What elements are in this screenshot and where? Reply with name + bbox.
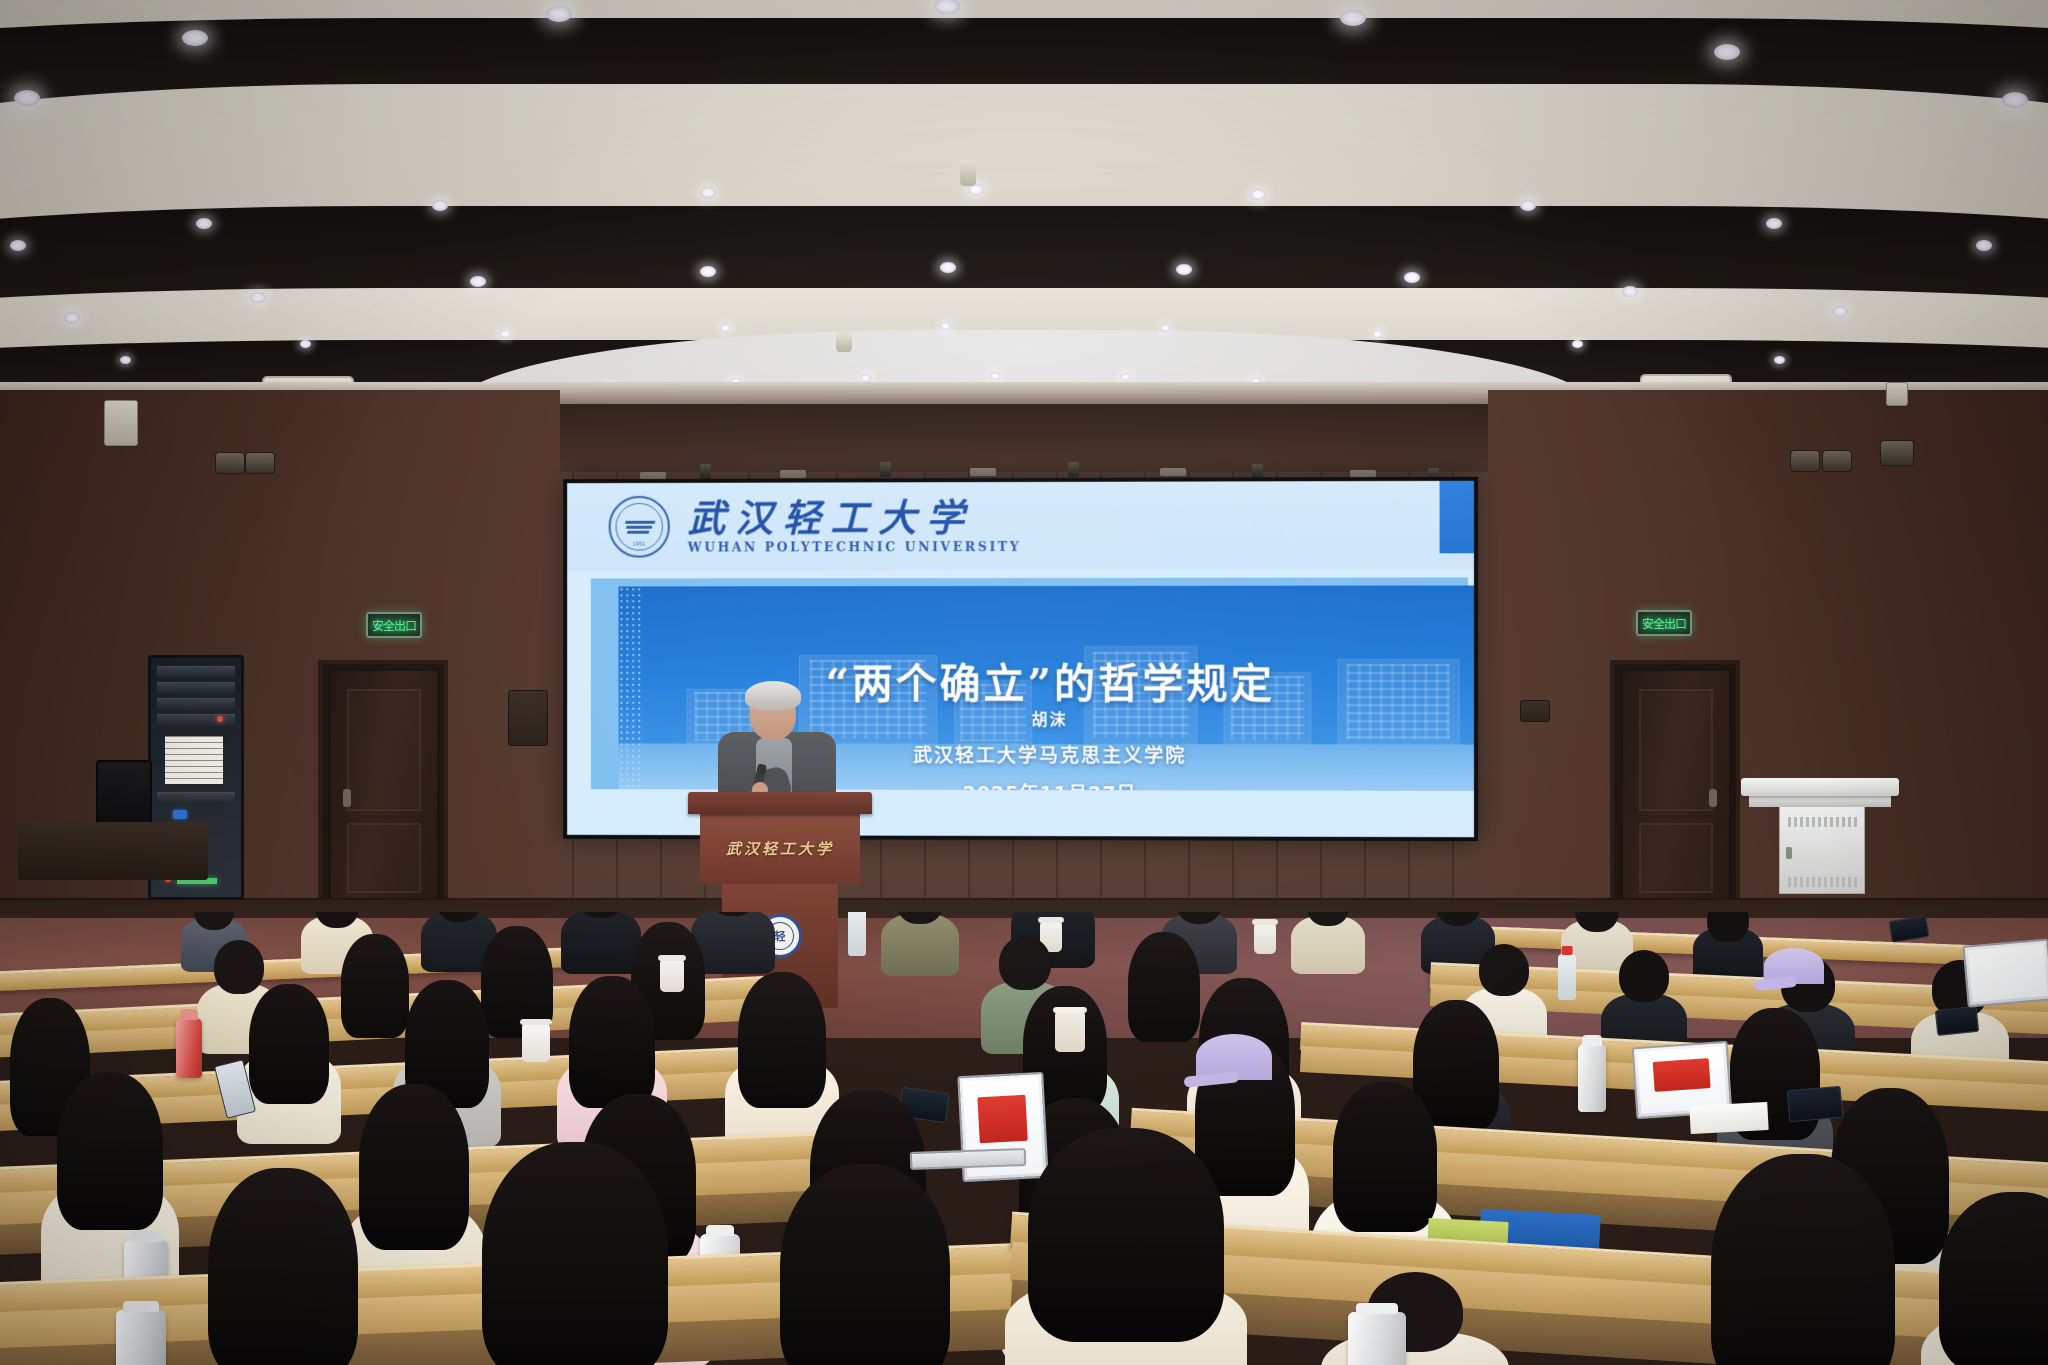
ceiling-downlight <box>1372 330 1383 338</box>
cup-lid <box>1038 917 1064 923</box>
audience-person <box>880 912 960 972</box>
console-vent <box>1788 877 1858 887</box>
person-head <box>1619 950 1669 1002</box>
wall-control-panel[interactable] <box>508 690 548 746</box>
thermos-cap <box>123 1301 159 1312</box>
ceiling <box>0 0 2048 430</box>
ceiling-downlight <box>1520 200 1536 211</box>
ceiling-downlight <box>250 292 266 303</box>
smoke-detector-icon <box>836 332 852 352</box>
podium-desktop <box>688 792 872 814</box>
person-long-hair <box>208 1168 358 1365</box>
ceiling-downlight <box>700 187 716 198</box>
tablet-screen <box>1637 1046 1727 1114</box>
screen-mount-bracket <box>1068 462 1079 477</box>
wall-camera-icon <box>1880 440 1914 466</box>
paper-cup <box>1254 924 1276 954</box>
cap-hat <box>1196 1034 1272 1080</box>
rack-unit <box>157 698 235 710</box>
thermos-bottle <box>176 1018 202 1078</box>
ceiling-downlight <box>2002 92 2028 108</box>
university-name-cn: 武汉轻工大学 <box>688 498 1022 537</box>
ceiling-downlight <box>14 90 40 106</box>
ceiling-downlight <box>990 372 1001 380</box>
ceiling-downlight <box>1250 189 1266 200</box>
person-head <box>1479 944 1529 996</box>
podium-front-panel: 武汉轻工大学 <box>700 812 860 884</box>
rack-label <box>165 736 223 784</box>
rack-unit <box>157 792 235 804</box>
ceiling-downlight <box>64 312 80 323</box>
screen-clip <box>970 468 996 476</box>
person-long-hair <box>1939 1192 2048 1365</box>
slide-header: 1951 武汉轻工大学 WUHAN POLYTECHNIC UNIVERSITY <box>567 481 1474 571</box>
audience-person <box>1692 912 1764 980</box>
ceiling-downlight <box>1176 264 1192 275</box>
paper-cup <box>522 1024 550 1062</box>
person-long-hair <box>780 1164 950 1365</box>
smartphone[interactable] <box>1935 1006 1979 1036</box>
tablet-screen <box>1968 944 2048 1002</box>
ceiling-downlight <box>1766 218 1782 229</box>
person-head <box>999 936 1051 990</box>
console-worktop <box>1741 778 1899 796</box>
ceiling-downlight <box>940 322 951 330</box>
ceiling-downlight <box>470 276 486 287</box>
projection-screen: 1951 武汉轻工大学 WUHAN POLYTECHNIC UNIVERSITY <box>563 477 1478 841</box>
water-bottle <box>1558 954 1576 1000</box>
door-left[interactable] <box>328 668 440 906</box>
tablet-content-block <box>1653 1058 1710 1092</box>
audience-seating-area <box>0 912 2048 1365</box>
seal-wing-mark <box>623 518 656 536</box>
cup-lid <box>520 1019 552 1025</box>
thermos-cap <box>1356 1303 1398 1314</box>
slide-speaker-affiliation: 武汉轻工大学马克思主义学院 <box>913 741 1186 768</box>
wall-speaker-icon <box>1790 450 1820 472</box>
smoke-detector-icon <box>960 160 976 186</box>
console-cabinet <box>1779 806 1865 894</box>
person-long-hair <box>482 1142 668 1365</box>
ceiling-downlight <box>1832 306 1848 317</box>
drink-cup <box>1055 1012 1085 1052</box>
thermos-bottle <box>1578 1044 1606 1112</box>
ceiling-downlight <box>1976 240 1992 251</box>
cup-lid <box>1252 919 1278 925</box>
cup-lid <box>1053 1007 1087 1013</box>
rack-button-icon[interactable] <box>173 810 187 819</box>
exit-sign-right: 安全出口 <box>1636 610 1692 636</box>
door-right[interactable] <box>1620 668 1732 906</box>
audience-person-front <box>760 1164 970 1365</box>
wall-speaker-icon <box>245 452 275 474</box>
bottle-cap <box>1562 946 1573 955</box>
person-long-hair <box>569 976 655 1108</box>
seal-year: 1951 <box>611 542 668 548</box>
person-long-hair <box>1028 1128 1224 1342</box>
lecture-hall-photo: 安全出口 安全出口 1951 武汉轻工大学 WUHAN POLYTECHNIC … <box>0 0 2048 1365</box>
rack-unit <box>157 666 235 678</box>
ceiling-downlight <box>1160 324 1171 332</box>
ceiling-downlight <box>1714 44 1740 60</box>
ceiling-downlight <box>500 330 511 338</box>
thermos-cap <box>180 1009 199 1020</box>
audience-person <box>236 982 342 1138</box>
audience-person-front <box>460 1142 690 1365</box>
screen-mount-bracket <box>700 464 711 479</box>
screen-clip <box>780 470 806 478</box>
person-long-hair <box>1711 1154 1895 1365</box>
exit-sign-left: 安全出口 <box>366 612 422 638</box>
person-long-hair <box>249 984 329 1104</box>
tablet-device[interactable] <box>1962 938 2048 1007</box>
podium-inscription: 武汉轻工大学 <box>726 838 834 859</box>
thermos-cap <box>130 1231 162 1242</box>
ceiling-downlight <box>720 324 731 332</box>
speaker-person <box>712 686 842 806</box>
person-long-hair <box>57 1072 163 1230</box>
screen-clip <box>1160 468 1186 476</box>
rack-unit <box>157 714 235 726</box>
university-name-block: 武汉轻工大学 WUHAN POLYTECHNIC UNIVERSITY <box>688 498 1022 554</box>
ceiling-downlight <box>300 340 311 348</box>
thermos-bottle <box>116 1310 166 1365</box>
ceiling-downlight <box>432 200 448 211</box>
notebook-paper <box>1689 1102 1768 1134</box>
ceiling-downlight <box>700 266 716 277</box>
water-bottle <box>848 912 866 956</box>
cup-lid <box>658 955 686 961</box>
thermos-cap <box>706 1225 735 1236</box>
wall-control-box <box>104 400 138 446</box>
ceiling-downlight <box>10 240 26 251</box>
smartphone[interactable] <box>1889 915 1930 943</box>
person-long-hair <box>738 972 826 1108</box>
side-table <box>18 822 208 880</box>
rack-power-led-icon <box>217 716 223 722</box>
wall-speaker-icon <box>1822 450 1852 472</box>
slide-surface: 1951 武汉轻工大学 WUHAN POLYTECHNIC UNIVERSITY <box>567 481 1474 837</box>
person-long-hair <box>1333 1082 1437 1232</box>
rack-unit <box>157 682 235 694</box>
ceiling-downlight <box>1622 286 1638 297</box>
ceiling-downlight <box>546 6 572 22</box>
door-knob-icon[interactable] <box>1709 789 1717 807</box>
thermos-cap <box>1582 1035 1602 1046</box>
ceiling-downlight <box>860 374 871 382</box>
cap-hat <box>1764 948 1824 984</box>
exit-sign-label: 安全出口 <box>372 617 416 634</box>
audience-person-front <box>1920 1192 2048 1365</box>
university-name-en: WUHAN POLYTECHNIC UNIVERSITY <box>688 538 1022 554</box>
wall-outlet-panel <box>1520 700 1550 722</box>
exit-sign-label: 安全出口 <box>1642 615 1686 632</box>
console-latch-icon[interactable] <box>1786 847 1792 859</box>
door-knob-icon[interactable] <box>343 789 351 807</box>
audience-person-front <box>188 1168 378 1365</box>
ceiling-downlight <box>940 262 956 273</box>
ceiling-downlight <box>182 30 208 46</box>
speaker-hair <box>745 681 801 711</box>
slide-accent-corner <box>1440 481 1474 554</box>
side-monitor <box>96 760 152 828</box>
ceiling-downlight <box>1774 356 1785 364</box>
console-vent <box>1788 817 1858 827</box>
audience-person-front <box>1690 1154 1916 1365</box>
screen-mount-bracket <box>880 462 891 477</box>
ceiling-downlight <box>120 356 131 364</box>
ceiling-downlight <box>1572 340 1583 348</box>
ceiling-downlight <box>1404 272 1420 283</box>
wall-sensor-box <box>1886 382 1908 406</box>
audience-person-front <box>1004 1128 1248 1365</box>
thermos-bottle <box>1348 1312 1406 1365</box>
audience-person <box>1290 912 1366 972</box>
ceiling-downlight <box>196 218 212 229</box>
ceiling-downlight <box>1120 373 1131 381</box>
university-seal-icon: 1951 <box>609 496 670 558</box>
lectern-console[interactable] <box>1755 778 1885 896</box>
wall-speaker-icon <box>215 452 245 474</box>
slide-speaker-name: 胡沫 <box>1031 706 1067 730</box>
ceiling-downlight <box>1340 10 1366 26</box>
